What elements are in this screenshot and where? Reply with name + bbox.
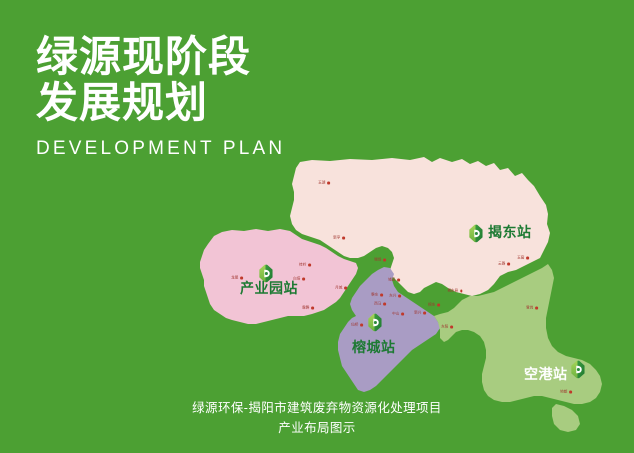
city-marker: 仙桥	[351, 323, 363, 328]
city-marker: 东兴	[389, 294, 401, 299]
city-marker-dot	[380, 294, 383, 297]
title-block: 绿源现阶段 发展规划 DEVELOPMENT PLAN	[36, 34, 366, 160]
city-marker-dot	[460, 290, 463, 293]
city-marker-dot	[450, 326, 453, 329]
city-marker-dot	[383, 259, 386, 262]
city-marker-dot	[423, 312, 426, 315]
city-marker: 玉窖	[517, 256, 529, 261]
city-marker-dot	[397, 279, 400, 282]
city-marker-label: 玉湖	[318, 181, 325, 186]
city-marker-label: 西马	[374, 302, 381, 307]
city-marker-label: 东兴	[389, 294, 396, 299]
city-marker: 霖磐	[302, 306, 314, 311]
station-label-chanyeyuan[interactable]: 产业园站	[240, 278, 298, 298]
city-marker-label: 地都	[560, 390, 567, 395]
city-marker: 桂岭	[299, 263, 311, 268]
station-label-jiedong[interactable]: 揭东站	[488, 222, 532, 242]
city-marker-dot	[302, 278, 305, 281]
city-marker-label: 东阳	[441, 325, 448, 330]
station-name-rongcheng: 榕城站	[352, 337, 396, 357]
station-label-rongcheng[interactable]: 榕城站	[352, 337, 396, 357]
map-region-rongcheng	[338, 267, 440, 392]
page-title-line-1: 绿源现阶段	[36, 34, 366, 80]
station-label-konggang[interactable]: 空港站	[524, 364, 568, 384]
city-marker: 玉湖	[318, 181, 330, 186]
station-name-jiedong: 揭东站	[488, 222, 532, 242]
city-marker-dot	[308, 264, 311, 267]
city-marker-label: 锡场	[374, 258, 381, 263]
city-marker-label: 新亨	[333, 236, 340, 241]
city-marker-label: 揭东县	[447, 289, 458, 294]
caption-block: 绿源环保-揭阳市建筑废弃物资源化处理项目 产业布局图示	[0, 398, 634, 438]
page-title-line-2: 发展规划	[36, 80, 366, 126]
city-marker: 榕东	[428, 303, 440, 308]
city-marker: 新亨	[333, 236, 345, 241]
city-marker-label: 龙尾	[231, 276, 238, 281]
caption-line-1: 绿源环保-揭阳市建筑废弃物资源化处理项目	[0, 398, 634, 418]
city-marker-dot	[342, 237, 345, 240]
city-marker-dot	[398, 295, 401, 298]
city-marker: 磐东	[371, 293, 383, 298]
city-marker-label: 中山	[392, 312, 399, 317]
city-marker: 月城	[335, 286, 347, 291]
map-region-konggang	[434, 264, 602, 404]
city-marker: 中山	[392, 312, 404, 317]
city-marker-dot	[401, 313, 404, 316]
logo-icon-konggang	[571, 361, 584, 379]
city-marker: 东阳	[441, 325, 453, 330]
city-marker-dot	[507, 263, 510, 266]
city-marker: 地都	[560, 390, 572, 395]
city-marker-label: 榕东	[428, 303, 435, 308]
logo-icon-rongcheng	[368, 314, 381, 332]
city-marker-label: 霖磐	[302, 306, 309, 311]
city-marker: 揭东县	[447, 289, 462, 294]
city-marker-dot	[535, 307, 538, 310]
city-marker-label: 云路	[498, 262, 505, 267]
station-name-chanyeyuan: 产业园站	[240, 278, 298, 298]
map-region-chanyeyuan	[200, 229, 358, 324]
city-marker: 云路	[498, 262, 510, 267]
city-marker-dot	[360, 324, 363, 327]
city-marker-label: 登岗	[526, 306, 533, 311]
station-name-konggang: 空港站	[524, 364, 568, 384]
city-marker: 锡场	[374, 258, 386, 263]
city-marker-label: 月城	[335, 286, 342, 291]
city-marker: 西马	[374, 302, 386, 307]
city-marker-label: 桂岭	[299, 263, 306, 268]
poster-root: 玉湖新亨锡场玉窖云路桂岭龙尾白塔月城霖磐埔田磐东东兴西马中山新兴揭东县榕东仙桥东…	[0, 0, 634, 453]
page-subtitle: DEVELOPMENT PLAN	[36, 138, 366, 160]
city-marker-dot	[526, 257, 529, 260]
city-marker-dot	[311, 307, 314, 310]
city-marker-dot	[569, 391, 572, 394]
city-marker-label: 磐东	[371, 293, 378, 298]
city-marker-label: 埔田	[388, 278, 395, 283]
city-marker-label: 玉窖	[517, 256, 524, 261]
city-marker: 埔田	[388, 278, 400, 283]
city-marker-dot	[344, 287, 347, 290]
caption-line-2: 产业布局图示	[0, 418, 634, 438]
city-marker-label: 新兴	[414, 311, 421, 316]
city-marker: 新兴	[414, 311, 426, 316]
city-marker-dot	[437, 304, 440, 307]
city-marker-dot	[327, 182, 330, 185]
city-marker-label: 仙桥	[351, 323, 358, 328]
city-marker: 登岗	[526, 306, 538, 311]
city-marker-dot	[383, 303, 386, 306]
logo-icon-jiedong	[469, 225, 482, 243]
